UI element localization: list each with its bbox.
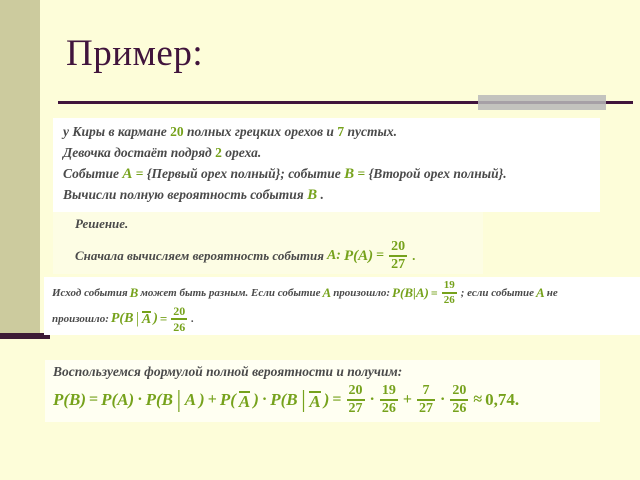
total-term-PBA-suffix: ) (199, 390, 205, 410)
outcomes-fraction2-numerator: 20 (171, 305, 187, 317)
outcomes-var-A: A (323, 285, 332, 301)
problem-statement-box: у Киры в кармане 20 полных грецких орехо… (53, 118, 600, 212)
slide-canvas: Пример: у Киры в кармане 20 полных грецк… (0, 0, 640, 480)
problem-var-A: A (122, 166, 132, 182)
left-olive-rule (0, 333, 50, 339)
problem-line-2: Девочка достаёт подряд 2 ореха. (63, 145, 261, 161)
total-probability-heading: Воспользуемся формулой полной вероятност… (53, 364, 402, 380)
total-frac2-denominator: 26 (380, 402, 398, 416)
problem-line1-number-20: 20 (170, 124, 184, 139)
outcomes-box: Исход события B может быть разным. Если … (44, 277, 640, 335)
total-term-PBA-var: A (185, 390, 196, 410)
outcomes-text-b: может быть разным. Если событие (140, 287, 320, 299)
problem-line3-text-b: {Первый орех полный}; событие (147, 166, 341, 181)
problem-line3-text-c: {Второй орех полный}. (369, 166, 507, 181)
outcomes-equals-2: = (160, 311, 167, 327)
total-fraction-20-26: 20 26 (450, 384, 468, 416)
outcomes-conditional-bar: | (136, 311, 138, 328)
total-frac2-numerator: 19 (380, 384, 398, 398)
total-conditional-bar-2: | (302, 386, 306, 414)
total-term-PnotA-prefix: P( (220, 390, 236, 410)
problem-line3-text-a: Событие (63, 166, 119, 181)
outcomes-text-e: не (547, 287, 558, 299)
total-term-PBnotA-prefix: P(B (270, 390, 297, 410)
total-term-PnotA-suffix: ) (253, 390, 259, 410)
total-term-PnotA-var: A (239, 391, 250, 410)
outcomes-fraction-20-26: 20 26 (171, 305, 187, 333)
solution-first-step: Сначала вычисляем вероятность события A:… (75, 240, 415, 272)
left-olive-band (0, 0, 40, 333)
solution-fraction-20-27: 20 27 (389, 240, 407, 272)
total-frac1-numerator: 20 (347, 384, 365, 398)
problem-var-B-2: B (307, 187, 317, 203)
total-equals-1: = (89, 391, 98, 409)
total-frac4-numerator: 20 (450, 384, 468, 398)
solution-var-A: A: (327, 248, 341, 264)
total-frac3-numerator: 7 (421, 384, 432, 398)
total-dot-2: · (262, 391, 267, 409)
solution-equals: = (376, 248, 384, 264)
solution-fraction-numerator: 20 (389, 240, 407, 254)
outcomes-fraction1-numerator: 19 (442, 280, 457, 291)
outcomes-var-A-2: A (536, 285, 545, 301)
outcomes-text-c: произошло: (333, 287, 390, 299)
total-result-value: 0,74. (485, 390, 519, 410)
outcomes-equals-1: = (431, 286, 438, 301)
total-plus-1: + (208, 391, 217, 409)
outcomes-text-d: ; если событие (461, 287, 534, 299)
outcomes-line-2: произошло: P(B | A ) = 20 26 . (52, 305, 194, 333)
outcomes-var-B: B (130, 285, 139, 301)
total-frac3-denominator: 27 (417, 402, 435, 416)
total-fraction-7-27: 7 27 (417, 384, 435, 416)
solution-heading: Решение. (75, 216, 128, 232)
problem-line1-text-a: у Киры в кармане (63, 124, 167, 139)
problem-line3-equals-1: = (136, 166, 144, 181)
problem-line1-number-7: 7 (337, 124, 344, 139)
total-probability-formula: P(B) = P(A) · P(B | A ) + P( A ) · P(B |… (53, 384, 519, 416)
total-plus-2: + (403, 391, 412, 409)
total-term-PBnotA-var: A (309, 391, 320, 410)
problem-line2-text-a: Девочка достаёт подряд (63, 145, 212, 160)
outcomes-fraction-19-26: 19 26 (442, 280, 457, 306)
solution-text-a: Сначала вычисляем вероятность события (75, 248, 324, 264)
solution-box: Решение. Сначала вычисляем вероятность с… (53, 212, 483, 274)
total-term-PBnotA-suffix: ) (324, 390, 330, 410)
total-term-PA: P(A) (101, 390, 134, 410)
total-fraction-19-26: 19 26 (380, 384, 398, 416)
total-approx-sign: ≈ (473, 391, 482, 409)
total-equals-2: = (332, 391, 341, 409)
outcomes-line2-period: . (191, 313, 194, 325)
solution-period: . (412, 248, 415, 264)
problem-line1-text-b: полных грецких орехов и (187, 124, 334, 139)
total-term-PBA-prefix: P(B (146, 390, 173, 410)
outcomes-line2-text-a: произошло: (52, 313, 109, 325)
outcomes-fraction1-denominator: 26 (442, 295, 457, 306)
solution-expr-PA: P(A) (344, 248, 373, 265)
outcomes-fraction2-denominator: 26 (171, 321, 187, 333)
outcomes-expr-prefix: P(B (111, 311, 134, 327)
outcomes-expr-PBA: P(B|A) (392, 285, 429, 301)
problem-line2-text-b: ореха. (225, 145, 261, 160)
solution-fraction-denominator: 27 (389, 258, 407, 272)
problem-line3-equals-2: = (358, 166, 366, 181)
total-frac4-denominator: 26 (450, 402, 468, 416)
total-probability-box: Воспользуемся формулой полной вероятност… (45, 360, 600, 422)
problem-line1-text-c: пустых. (347, 124, 397, 139)
outcomes-expr-complement-A: A (142, 311, 151, 327)
problem-line-3: Событие A = {Первый орех полный}; событи… (63, 166, 507, 183)
problem-line-1: у Киры в кармане 20 полных грецких орехо… (63, 124, 397, 140)
problem-line4-text-b: . (321, 187, 324, 202)
outcomes-line-1: Исход события B может быть разным. Если … (52, 280, 558, 306)
outcomes-text-a: Исход события (52, 287, 128, 299)
problem-line4-text-a: Вычисли полную вероятность события (63, 187, 304, 202)
total-conditional-bar-1: | (177, 386, 181, 414)
total-dot-3: · (370, 391, 375, 409)
problem-var-B: B (344, 166, 354, 182)
outcomes-expr-suffix: ) (153, 311, 158, 327)
problem-line-4: Вычисли полную вероятность события B . (63, 187, 324, 204)
total-lhs-PB: P(B) (53, 390, 86, 410)
total-dot-4: · (440, 391, 445, 409)
title-accent-bar (478, 95, 606, 110)
total-fraction-20-27: 20 27 (347, 384, 365, 416)
problem-line2-number-2: 2 (215, 145, 222, 160)
page-title: Пример: (66, 32, 203, 75)
total-dot-1: · (137, 391, 142, 409)
total-frac1-denominator: 27 (347, 402, 365, 416)
